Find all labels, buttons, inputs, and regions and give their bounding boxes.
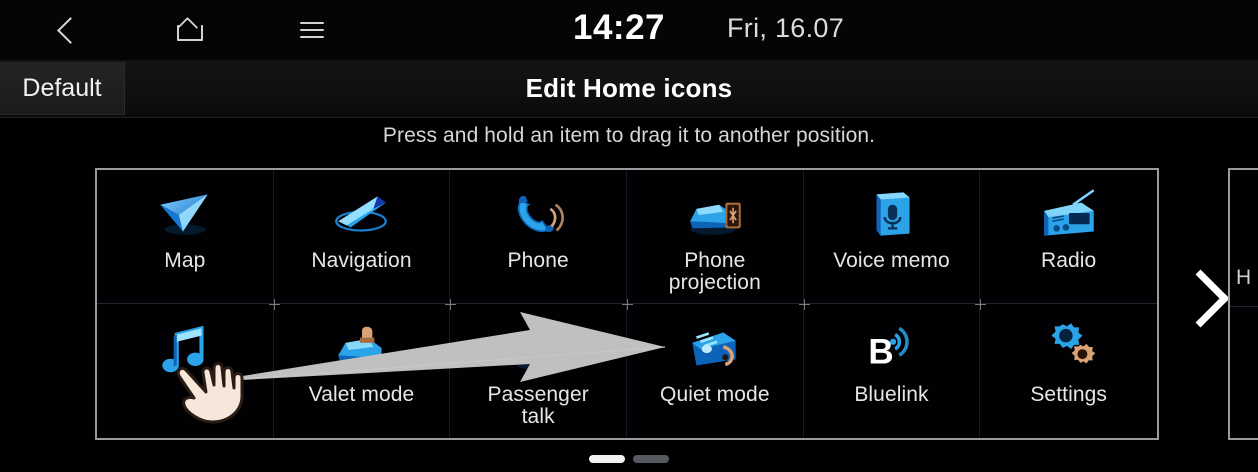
home-icon-label: Voice memo [833,250,950,272]
home-icon-cell[interactable]: Voice memo [804,170,981,304]
quiet-mode-icon [678,318,752,380]
passenger-talk-icon [501,318,575,380]
bluelink-b-icon: B [854,318,928,380]
home-icon-label: Bluelink [854,384,928,406]
next-page-preview[interactable]: H [1228,168,1258,440]
page-title: Edit Home icons [0,60,1258,117]
back-button[interactable] [38,0,98,60]
home-button[interactable] [160,0,220,60]
home-icon-cell[interactable]: Valet mode [274,304,451,438]
home-icon-cell[interactable]: Phone projection [627,170,804,304]
home-icon-label: Passenger talk [488,384,589,429]
valet-mode-icon [324,318,398,380]
instruction-text: Press and hold an item to drag it to ano… [0,124,1258,148]
home-icon-cell[interactable]: Passenger talk [450,304,627,438]
page-indicator [0,455,1258,463]
home-icon-label: Radio [1041,250,1096,272]
home-icon-label: Phone projection [669,250,761,295]
phone-handset-icon [501,184,575,246]
hamburger-menu-icon [300,22,324,38]
phone-projection-car-icon [678,184,752,246]
home-icon-cell[interactable]: Phone [450,170,627,304]
voice-memo-microphone-icon [854,184,928,246]
menu-button[interactable] [282,0,342,60]
title-bar: Edit Home icons Default [0,60,1258,118]
radio-icon [1032,184,1106,246]
settings-gears-icon [1032,318,1106,380]
page-dot[interactable] [633,455,669,463]
map-arrow-icon [148,184,222,246]
home-icon-label: Valet mode [309,384,415,406]
home-icon-cell[interactable]: Settings [980,304,1157,438]
home-icon [177,19,203,41]
home-icon-label: Navigation [311,250,411,272]
home-icon-cell[interactable]: Map [97,170,274,304]
page-dot[interactable] [589,455,625,463]
default-button[interactable]: Default [0,62,125,115]
home-icon-cell[interactable]: Quiet mode [627,304,804,438]
status-bar: 14:27 Fri, 16.07 [0,0,1258,60]
chevron-right-icon[interactable] [1172,270,1230,328]
home-icon-label: Map [164,250,205,272]
date-label: Fri, 16.07 [727,13,844,44]
home-icon-label: Quiet mode [660,384,770,406]
home-icon-label: Phone [508,250,569,272]
svg-text:B: B [869,332,894,371]
infotainment-screen: 14:27 Fri, 16.07 Edit Home icons Default… [0,0,1258,472]
home-icon-cell[interactable]: Radio [980,170,1157,304]
next-page-item-label: H [1236,266,1251,290]
home-icon-cell[interactable]: Navigation [274,170,451,304]
home-icon-cell[interactable]: B Bluelink [804,304,981,438]
clock: 14:27 [573,8,665,48]
chevron-left-icon [57,17,84,44]
home-icon-label: Settings [1030,384,1107,406]
drag-hand-cursor-icon [172,352,258,424]
navigation-layers-icon [324,184,398,246]
